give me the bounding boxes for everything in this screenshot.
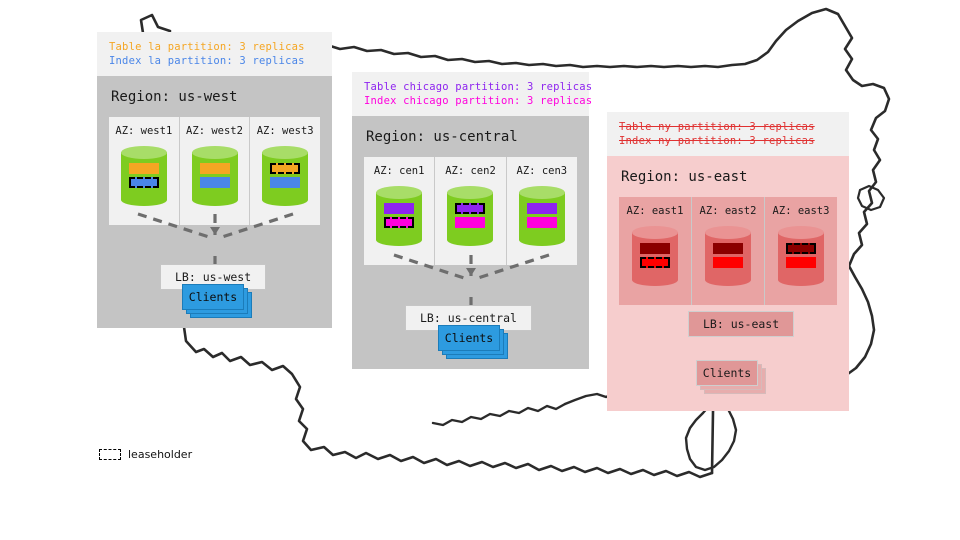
clients-us-east[interactable]: Clients — [696, 360, 768, 396]
az-label: AZ: east2 — [692, 205, 764, 217]
clients-us-west[interactable]: Clients — [182, 284, 254, 320]
node-cylinder-east1[interactable] — [632, 226, 678, 286]
cylinder-top — [778, 226, 824, 239]
region-title: Region: us-east — [621, 169, 837, 185]
clients-label[interactable]: Clients — [438, 325, 500, 351]
partition-line-index: Index ny partition: 3 replicas — [619, 135, 837, 149]
node-cylinder-east2[interactable] — [705, 226, 751, 286]
clients-label[interactable]: Clients — [182, 284, 244, 310]
az-label: AZ: east3 — [765, 205, 837, 217]
cylinder-top — [632, 226, 678, 239]
replica-index — [786, 257, 816, 268]
az-row-us-east: AZ: east1 AZ: east2 — [619, 197, 837, 305]
clients-label[interactable]: Clients — [696, 360, 758, 386]
replica-table-leaseholder — [786, 243, 816, 254]
node-cylinder-east3[interactable] — [778, 226, 824, 286]
arrow-head — [210, 227, 220, 235]
az-east1[interactable]: AZ: east1 — [619, 197, 691, 305]
replica-index — [713, 257, 743, 268]
az-east3[interactable]: AZ: east3 — [764, 197, 837, 305]
replica-bars — [632, 243, 678, 271]
diagram-canvas: Table la partition: 3 replicas Index la … — [0, 0, 960, 540]
az-label: AZ: east1 — [619, 205, 691, 217]
region-panel-us-west: Table la partition: 3 replicas Index la … — [97, 32, 332, 328]
replica-bars — [705, 243, 751, 271]
partition-header-us-east: Table ny partition: 3 replicas Index ny … — [607, 112, 849, 156]
arrow-head — [466, 268, 476, 276]
az-east2[interactable]: AZ: east2 — [691, 197, 764, 305]
replica-bars — [778, 243, 824, 271]
clients-us-central[interactable]: Clients — [438, 325, 510, 361]
partition-line-table: Table ny partition: 3 replicas — [619, 121, 837, 135]
region-panel-us-central: Table chicago partition: 3 replicas Inde… — [352, 72, 589, 369]
legend: leaseholder — [99, 448, 192, 461]
cylinder-top — [705, 226, 751, 239]
replica-table — [713, 243, 743, 254]
leaseholder-swatch-icon — [99, 449, 121, 460]
replica-table — [640, 243, 670, 254]
replica-index-leaseholder — [640, 257, 670, 268]
region-panel-us-east: Table ny partition: 3 replicas Index ny … — [607, 112, 849, 411]
load-balancer-us-east[interactable]: LB: us-east — [688, 311, 794, 337]
legend-label: leaseholder — [128, 448, 192, 461]
